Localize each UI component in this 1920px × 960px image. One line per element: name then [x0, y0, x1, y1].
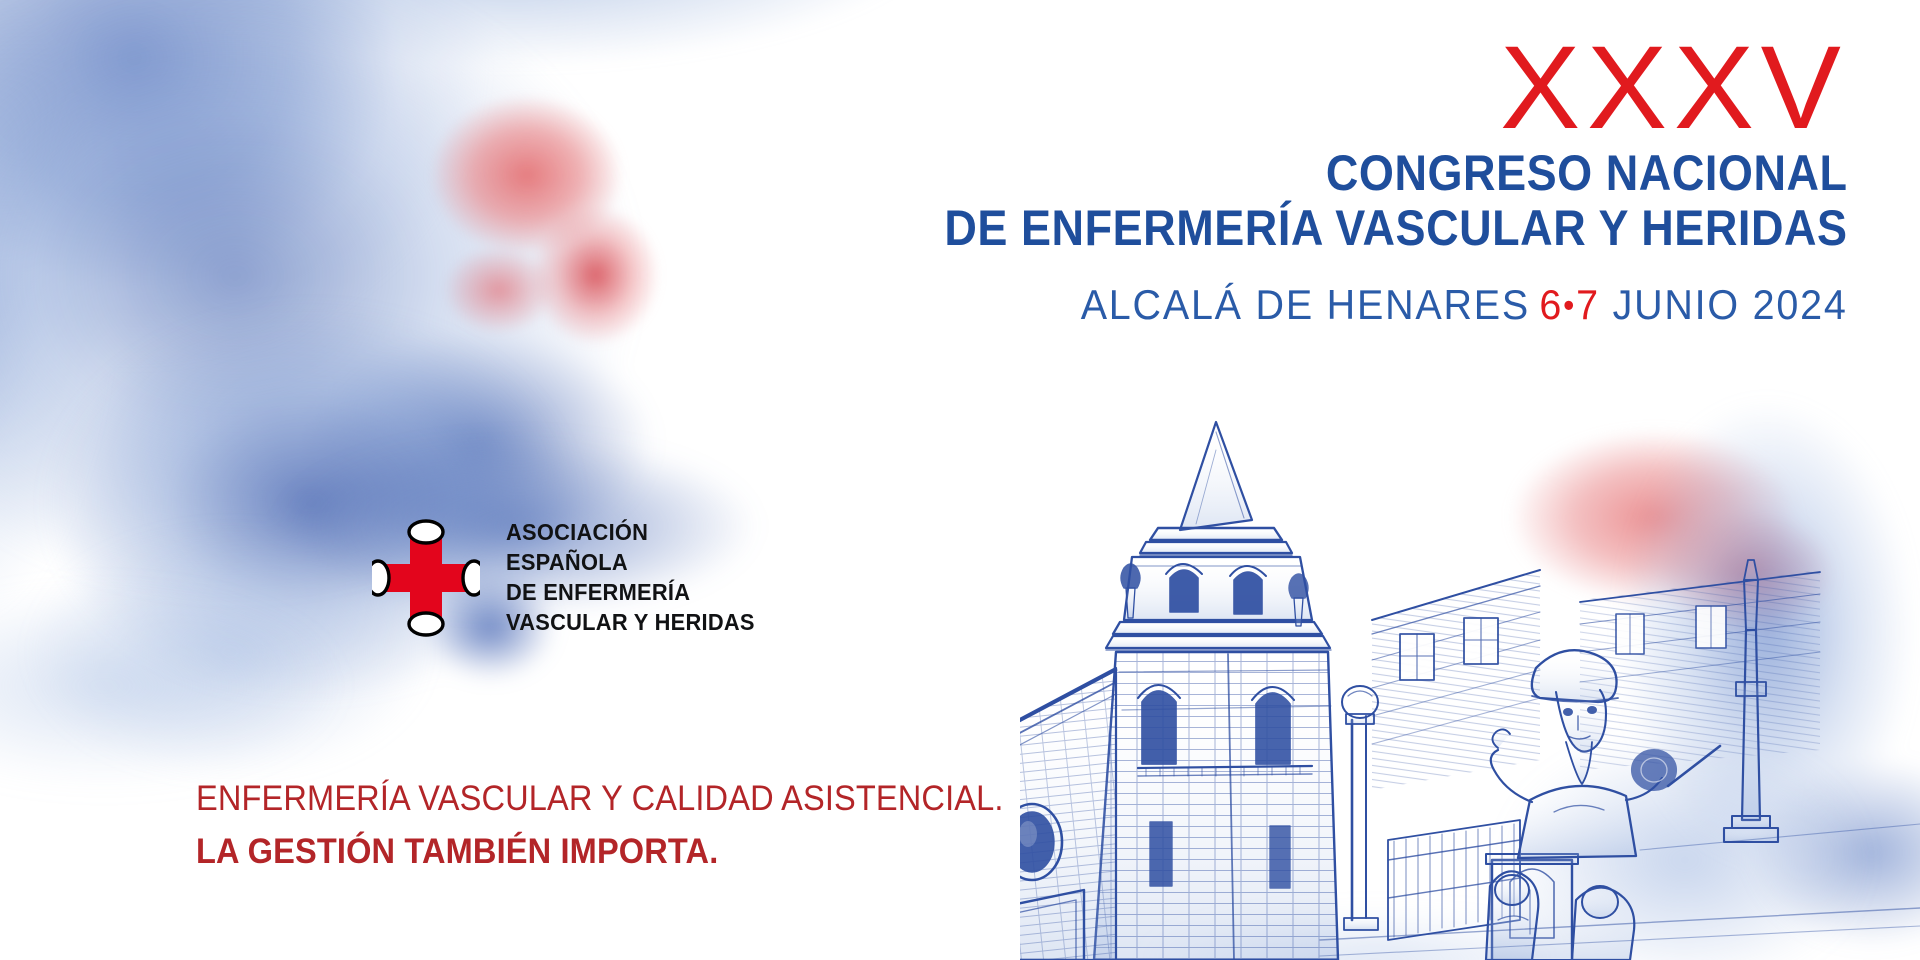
blue-watercolor-wash-right — [1620, 400, 1920, 960]
association-logo: ASOCIACIÓN ESPAÑOLA DE ENFERMERÍA VASCUL… — [372, 518, 768, 638]
association-name: ASOCIACIÓN ESPAÑOLA DE ENFERMERÍA VASCUL… — [506, 518, 755, 638]
red-watercolor-blot-right — [1510, 430, 1870, 660]
date-day-start: 6 — [1540, 281, 1564, 328]
blue-watercolor-wash-topleft-2 — [0, 0, 730, 600]
venue-and-date: ALCALÁ DE HENARES6•7 JUNIO 2024 — [905, 281, 1848, 329]
association-name-line-2: ESPAÑOLA — [506, 548, 755, 578]
tagline-line-1: ENFERMERÍA VASCULAR Y CALIDAD ASISTENCIA… — [196, 775, 1004, 823]
congress-poster: XXXV CONGRESO NACIONAL DE ENFERMERÍA VAS… — [0, 0, 1920, 960]
alcala-landmark-illustration — [1020, 420, 1920, 960]
date-separator-dot: • — [1564, 286, 1577, 324]
venue-city: ALCALÁ DE HENARES — [1081, 281, 1540, 328]
edition-roman-numeral: XXXV — [824, 34, 1848, 143]
red-cross-vessel-icon — [372, 518, 480, 638]
blue-watercolor-wash-bottom-right — [1080, 620, 1920, 960]
association-name-line-1: ASOCIACIÓN — [506, 518, 755, 548]
page-title-line-1: CONGRESO NACIONAL — [945, 147, 1848, 200]
tagline-line-2: LA GESTIÓN TAMBIÉN IMPORTA. — [196, 828, 1004, 876]
association-name-line-4: VASCULAR Y HERIDAS — [506, 608, 755, 638]
association-name-line-3: DE ENFERMERÍA — [506, 578, 755, 608]
congress-tagline: ENFERMERÍA VASCULAR Y CALIDAD ASISTENCIA… — [196, 775, 1004, 875]
date-day-end: 7 — [1577, 281, 1601, 328]
red-watercolor-blot-top — [430, 95, 660, 345]
congress-title-block: XXXV CONGRESO NACIONAL DE ENFERMERÍA VAS… — [844, 34, 1848, 329]
page-title-line-2: DE ENFERMERÍA VASCULAR Y HERIDAS — [945, 202, 1848, 255]
date-month-year: JUNIO 2024 — [1613, 281, 1848, 328]
